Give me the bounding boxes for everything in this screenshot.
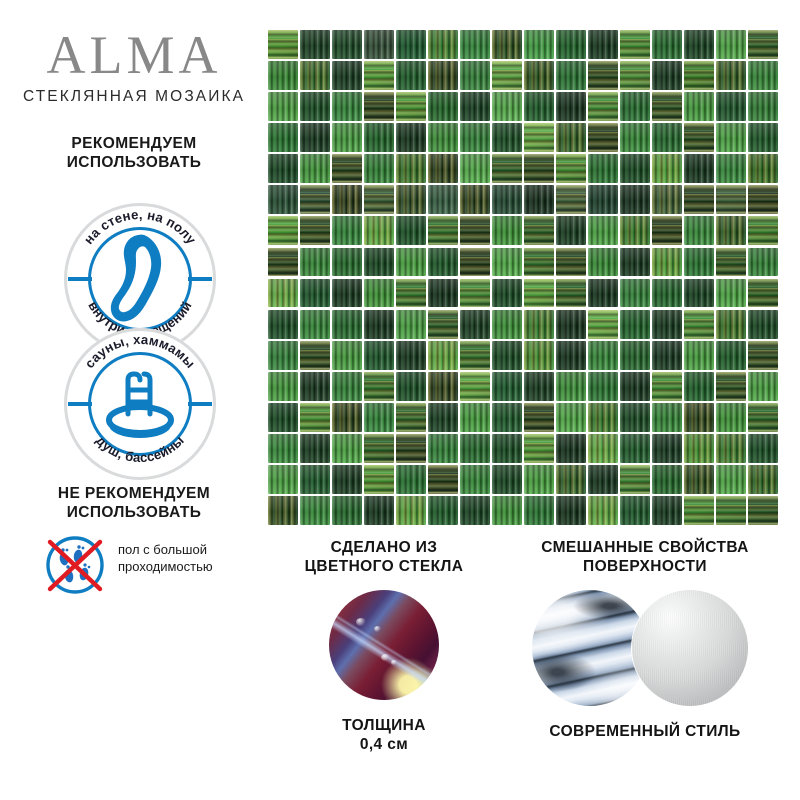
matte-silver-swatch	[632, 590, 748, 706]
mosaic-tile	[396, 279, 426, 308]
mosaic-tile	[460, 310, 490, 339]
feature-title-line1: СДЕЛАНО ИЗ	[278, 538, 490, 557]
feature-colored-glass: СДЕЛАНО ИЗ ЦВЕТНОГО СТЕКЛА ТОЛЩИНА 0,4 с…	[278, 538, 490, 754]
feature-title: СМЕШАННЫЕ СВОЙСТВА ПОВЕРХНОСТИ	[500, 538, 790, 576]
mosaic-tile	[300, 216, 330, 245]
mosaic-tile	[652, 341, 682, 370]
feature-title: СДЕЛАНО ИЗ ЦВЕТНОГО СТЕКЛА	[278, 538, 490, 576]
mosaic-tile	[332, 92, 362, 121]
mosaic-tile	[268, 465, 298, 494]
mosaic-tile	[428, 403, 458, 432]
mosaic-tile	[684, 372, 714, 401]
mosaic-tile	[524, 310, 554, 339]
mosaic-tile	[684, 30, 714, 59]
mosaic-tile	[364, 61, 394, 90]
mosaic-tile	[652, 216, 682, 245]
green-glass-mosaic-sheet	[268, 30, 778, 525]
mosaic-tile	[460, 279, 490, 308]
mosaic-tile	[556, 341, 586, 370]
mosaic-tile	[364, 465, 394, 494]
mosaic-tile	[684, 61, 714, 90]
feature-title-line2: ЦВЕТНОГО СТЕКЛА	[278, 557, 490, 576]
feature-caption: ТОЛЩИНА 0,4 см	[278, 716, 490, 754]
not-recommend-item: пол с большой проходимостью	[44, 534, 264, 596]
mosaic-tile	[460, 154, 490, 183]
thickness-value: 0,4 см	[278, 735, 490, 754]
brand-subtitle: СТЕКЛЯННАЯ МОЗАИКА	[0, 88, 268, 106]
mosaic-tile	[620, 403, 650, 432]
mosaic-tile	[396, 434, 426, 463]
mosaic-tile	[684, 123, 714, 152]
mosaic-tile	[332, 372, 362, 401]
mosaic-tile	[268, 30, 298, 59]
footprint-sole-icon	[88, 227, 192, 331]
mosaic-tile	[396, 123, 426, 152]
mosaic-tile	[620, 434, 650, 463]
mosaic-tile	[652, 496, 682, 525]
mosaic-tile	[492, 372, 522, 401]
glass-bubble	[356, 618, 366, 626]
mosaic-tile	[588, 403, 618, 432]
mosaic-tile	[620, 310, 650, 339]
mosaic-tile	[300, 372, 330, 401]
marble-warp	[532, 590, 648, 706]
mosaic-tile	[332, 61, 362, 90]
mosaic-tile	[556, 465, 586, 494]
mosaic-tile	[492, 92, 522, 121]
mosaic-tile	[364, 123, 394, 152]
mosaic-tile	[396, 92, 426, 121]
mosaic-tile	[364, 279, 394, 308]
mosaic-tile	[332, 496, 362, 525]
glass-bubble	[381, 654, 390, 661]
mosaic-tile	[428, 465, 458, 494]
mosaic-tile	[492, 154, 522, 183]
mosaic-tile	[588, 434, 618, 463]
mosaic-tile	[620, 465, 650, 494]
feature-mixed-surface: СМЕШАННЫЕ СВОЙСТВА ПОВЕРХНОСТИ СОВРЕМЕНН…	[500, 538, 790, 741]
mosaic-tile	[492, 341, 522, 370]
mosaic-tile	[524, 123, 554, 152]
mosaic-tile	[364, 185, 394, 214]
mosaic-tile	[460, 434, 490, 463]
mosaic-tile	[332, 434, 362, 463]
mosaic-tile	[556, 434, 586, 463]
mosaic-tile	[300, 465, 330, 494]
mosaic-tile	[492, 123, 522, 152]
mosaic-tile	[716, 154, 746, 183]
mosaic-tile	[620, 216, 650, 245]
glass-bubble	[374, 626, 381, 632]
mosaic-tile	[268, 372, 298, 401]
mosaic-tile	[684, 434, 714, 463]
mosaic-tile	[268, 185, 298, 214]
mosaic-tile	[460, 496, 490, 525]
mosaic-tile	[460, 341, 490, 370]
not-recommend-caption-line1: пол с большой	[118, 542, 266, 559]
mosaic-tile	[716, 341, 746, 370]
mosaic-tile	[556, 248, 586, 277]
mosaic-tile	[620, 341, 650, 370]
mosaic-tile	[620, 496, 650, 525]
mosaic-tile	[684, 310, 714, 339]
mosaic-tile	[588, 465, 618, 494]
mosaic-tile	[588, 30, 618, 59]
mosaic-tile	[332, 310, 362, 339]
mosaic-tile	[716, 434, 746, 463]
mosaic-tile	[428, 279, 458, 308]
mosaic-tile	[556, 123, 586, 152]
mosaic-tile	[652, 92, 682, 121]
mosaic-tile	[332, 154, 362, 183]
mosaic-tile	[460, 372, 490, 401]
brand-name: ALMA	[0, 28, 268, 82]
mosaic-tile	[588, 310, 618, 339]
mosaic-tile	[428, 248, 458, 277]
mosaic-tile	[300, 248, 330, 277]
mosaic-tile	[300, 341, 330, 370]
mosaic-tile	[620, 92, 650, 121]
mosaic-tile	[556, 154, 586, 183]
mosaic-tile	[588, 123, 618, 152]
mosaic-tile	[684, 403, 714, 432]
mosaic-tile	[716, 216, 746, 245]
mosaic-tile	[716, 123, 746, 152]
mosaic-tile	[748, 216, 778, 245]
mosaic-tile	[428, 154, 458, 183]
mosaic-tile	[428, 61, 458, 90]
mosaic-tile	[524, 403, 554, 432]
mosaic-tile	[268, 403, 298, 432]
recommend-heading-line1: РЕКОМЕНДУЕМ	[0, 134, 268, 153]
mosaic-tile	[428, 30, 458, 59]
mosaic-tile	[364, 496, 394, 525]
mosaic-tile	[748, 403, 778, 432]
mosaic-tile	[684, 154, 714, 183]
mosaic-tile	[716, 372, 746, 401]
mosaic-tile	[716, 496, 746, 525]
mosaic-tile	[716, 92, 746, 121]
mosaic-tile	[652, 185, 682, 214]
mosaic-tile	[492, 279, 522, 308]
mosaic-tile	[748, 185, 778, 214]
mosaic-tile	[332, 279, 362, 308]
mosaic-tile	[684, 185, 714, 214]
mosaic-tile	[556, 185, 586, 214]
mosaic-tile	[364, 372, 394, 401]
mosaic-tile	[492, 434, 522, 463]
mosaic-tile	[396, 61, 426, 90]
mosaic-tile	[268, 123, 298, 152]
mosaic-tile	[460, 465, 490, 494]
mosaic-tile	[748, 92, 778, 121]
not-recommend-heading-line1: НЕ РЕКОМЕНДУЕМ	[0, 484, 268, 503]
feature-title-line1: СМЕШАННЫЕ СВОЙСТВА	[500, 538, 790, 557]
mosaic-tile	[524, 30, 554, 59]
mosaic-tile	[364, 92, 394, 121]
mosaic-tile	[524, 154, 554, 183]
mosaic-tile	[588, 496, 618, 525]
mosaic-tile	[588, 216, 618, 245]
mosaic-tile	[492, 216, 522, 245]
mosaic-tile	[332, 248, 362, 277]
mosaic-tile	[524, 341, 554, 370]
mosaic-tile	[428, 185, 458, 214]
mosaic-tile	[652, 310, 682, 339]
mosaic-tile	[588, 185, 618, 214]
mosaic-tile	[556, 92, 586, 121]
mosaic-tile	[620, 372, 650, 401]
mosaic-tile	[748, 496, 778, 525]
mosaic-tile	[492, 496, 522, 525]
mosaic-tile	[364, 216, 394, 245]
mosaic-tile	[396, 310, 426, 339]
mosaic-tile	[684, 216, 714, 245]
mosaic-tile	[460, 185, 490, 214]
mosaic-tile	[748, 279, 778, 308]
mosaic-tile	[748, 372, 778, 401]
mosaic-tile	[652, 465, 682, 494]
mosaic-tile	[396, 372, 426, 401]
mosaic-tile	[460, 403, 490, 432]
mosaic-tile	[716, 465, 746, 494]
mosaic-tile	[620, 248, 650, 277]
mosaic-tile	[492, 310, 522, 339]
mosaic-tile	[460, 248, 490, 277]
feature-caption: СОВРЕМЕННЫЙ СТИЛЬ	[500, 722, 790, 741]
mosaic-tile	[524, 372, 554, 401]
mosaic-tile	[652, 434, 682, 463]
mosaic-tile	[748, 61, 778, 90]
mosaic-tile	[300, 61, 330, 90]
mosaic-tile	[748, 341, 778, 370]
mosaic-tile	[428, 341, 458, 370]
mosaic-tile	[428, 123, 458, 152]
mosaic-tile	[396, 248, 426, 277]
mosaic-tile	[556, 61, 586, 90]
mosaic-tile	[684, 465, 714, 494]
mosaic-tile	[396, 341, 426, 370]
mosaic-tile	[268, 496, 298, 525]
mosaic-tile	[268, 216, 298, 245]
mosaic-tile	[524, 61, 554, 90]
mosaic-tile	[364, 248, 394, 277]
mosaic-tile	[588, 279, 618, 308]
mosaic-tile	[716, 403, 746, 432]
mosaic-tile	[492, 248, 522, 277]
mosaic-tile	[268, 61, 298, 90]
mosaic-tile	[396, 154, 426, 183]
mosaic-tile	[652, 123, 682, 152]
mosaic-tile	[588, 248, 618, 277]
mosaic-tile	[652, 279, 682, 308]
mosaic-tile	[332, 123, 362, 152]
mosaic-tile	[684, 248, 714, 277]
mosaic-tile	[428, 92, 458, 121]
mosaic-tile	[524, 92, 554, 121]
mosaic-tile	[268, 154, 298, 183]
mosaic-tile	[396, 216, 426, 245]
mosaic-tile	[588, 92, 618, 121]
mosaic-tile	[620, 30, 650, 59]
iridescent-glass-swatch	[329, 590, 439, 700]
no-high-traffic-floor-icon	[44, 534, 106, 596]
mosaic-tile	[620, 123, 650, 152]
mosaic-tile	[428, 216, 458, 245]
mosaic-tile	[396, 465, 426, 494]
not-recommend-caption-line2: проходимостью	[118, 559, 266, 576]
mosaic-tile	[588, 341, 618, 370]
mosaic-tile	[332, 30, 362, 59]
mosaic-tile	[332, 403, 362, 432]
mosaic-tile	[268, 341, 298, 370]
silver-grain	[632, 590, 748, 706]
product-infographic: ALMA СТЕКЛЯННАЯ МОЗАИКА РЕКОМЕНДУЕМ ИСПО…	[0, 0, 800, 800]
mosaic-tile	[364, 30, 394, 59]
mosaic-tile	[556, 310, 586, 339]
mosaic-tile	[524, 434, 554, 463]
mosaic-tile	[460, 123, 490, 152]
mosaic-tile	[524, 496, 554, 525]
mosaic-tile	[652, 403, 682, 432]
mosaic-tile	[332, 341, 362, 370]
mosaic-tile	[300, 434, 330, 463]
mosaic-tile	[556, 216, 586, 245]
mosaic-tile	[620, 61, 650, 90]
mosaic-tile	[716, 310, 746, 339]
mosaic-tile	[396, 30, 426, 59]
mosaic-tile	[652, 154, 682, 183]
mosaic-tile	[428, 372, 458, 401]
mosaic-tile	[620, 279, 650, 308]
mosaic-tile	[460, 216, 490, 245]
mosaic-tile	[748, 123, 778, 152]
mosaic-tile	[556, 403, 586, 432]
mosaic-tile	[300, 185, 330, 214]
left-info-column: ALMA СТЕКЛЯННАЯ МОЗАИКА РЕКОМЕНДУЕМ ИСПО…	[0, 0, 268, 800]
mosaic-tile	[748, 154, 778, 183]
badge-sauna-pool: сауны, хаммамы душ, бассейны	[64, 328, 216, 480]
style-label: СОВРЕМЕННЫЙ СТИЛЬ	[500, 722, 790, 741]
mosaic-tile	[268, 279, 298, 308]
mosaic-tile	[332, 465, 362, 494]
mosaic-tile	[300, 310, 330, 339]
mosaic-tile	[268, 434, 298, 463]
mosaic-tile	[364, 310, 394, 339]
mosaic-tile	[332, 185, 362, 214]
mosaic-tile	[716, 248, 746, 277]
feature-title-line2: ПОВЕРХНОСТИ	[500, 557, 790, 576]
mosaic-tile	[300, 123, 330, 152]
mosaic-tile	[556, 496, 586, 525]
mosaic-tile	[524, 248, 554, 277]
mosaic-tile	[684, 341, 714, 370]
recommend-heading: РЕКОМЕНДУЕМ ИСПОЛЬЗОВАТЬ	[0, 134, 268, 172]
swimming-pool-icon	[88, 352, 192, 456]
mosaic-tile	[716, 30, 746, 59]
mosaic-tile	[300, 154, 330, 183]
thickness-label: ТОЛЩИНА	[278, 716, 490, 735]
mosaic-tile	[428, 496, 458, 525]
mosaic-tile	[364, 341, 394, 370]
mosaic-tile	[748, 30, 778, 59]
mosaic-tile	[748, 310, 778, 339]
mosaic-tile	[364, 154, 394, 183]
mosaic-tile	[492, 185, 522, 214]
mosaic-tile	[332, 216, 362, 245]
mosaic-tile	[556, 30, 586, 59]
mosaic-tile	[588, 154, 618, 183]
glass-bubble	[391, 660, 397, 665]
brand-logo: ALMA СТЕКЛЯННАЯ МОЗАИКА	[0, 28, 268, 106]
mosaic-tile	[364, 434, 394, 463]
mosaic-tile	[716, 185, 746, 214]
mosaic-tile	[524, 185, 554, 214]
mosaic-tile	[748, 248, 778, 277]
mosaic-tile	[524, 279, 554, 308]
mosaic-tile	[428, 434, 458, 463]
mosaic-tile	[396, 496, 426, 525]
surface-swatch-pair	[520, 590, 770, 706]
mosaic-tile	[364, 403, 394, 432]
mosaic-tile	[268, 92, 298, 121]
mosaic-tile	[300, 92, 330, 121]
mosaic-tile	[396, 185, 426, 214]
mosaic-tile	[300, 496, 330, 525]
mosaic-tile	[620, 154, 650, 183]
mosaic-tile	[300, 30, 330, 59]
mosaic-tile	[652, 372, 682, 401]
recommend-heading-line2: ИСПОЛЬЗОВАТЬ	[0, 153, 268, 172]
mosaic-tile	[556, 372, 586, 401]
mosaic-tile	[524, 465, 554, 494]
mosaic-tile	[620, 185, 650, 214]
not-recommend-heading: НЕ РЕКОМЕНДУЕМ ИСПОЛЬЗОВАТЬ	[0, 484, 268, 522]
mosaic-tile	[748, 465, 778, 494]
mosaic-tile	[652, 61, 682, 90]
mosaic-tile	[428, 310, 458, 339]
mosaic-tile	[748, 434, 778, 463]
mosaic-tile	[492, 30, 522, 59]
mosaic-tile	[460, 92, 490, 121]
mosaic-tile	[588, 61, 618, 90]
mosaic-tile	[556, 279, 586, 308]
mosaic-tile	[716, 61, 746, 90]
mosaic-tile	[684, 496, 714, 525]
mosaic-tile	[492, 403, 522, 432]
mosaic-tile	[652, 248, 682, 277]
mosaic-tile	[492, 61, 522, 90]
not-recommend-heading-line2: ИСПОЛЬЗОВАТЬ	[0, 503, 268, 522]
mosaic-tile	[300, 279, 330, 308]
mosaic-tile	[652, 30, 682, 59]
not-recommend-caption: пол с большой проходимостью	[118, 542, 266, 575]
mosaic-tile	[396, 403, 426, 432]
mosaic-tile	[716, 279, 746, 308]
mosaic-tile	[300, 403, 330, 432]
mosaic-tile	[684, 92, 714, 121]
mosaic-tile	[268, 310, 298, 339]
mosaic-tile	[588, 372, 618, 401]
mosaic-tile	[268, 248, 298, 277]
mosaic-tile	[460, 61, 490, 90]
mosaic-tile	[524, 216, 554, 245]
mosaic-tile	[460, 30, 490, 59]
mosaic-tile	[492, 465, 522, 494]
glossy-marble-swatch	[532, 590, 648, 706]
mosaic-tile	[684, 279, 714, 308]
